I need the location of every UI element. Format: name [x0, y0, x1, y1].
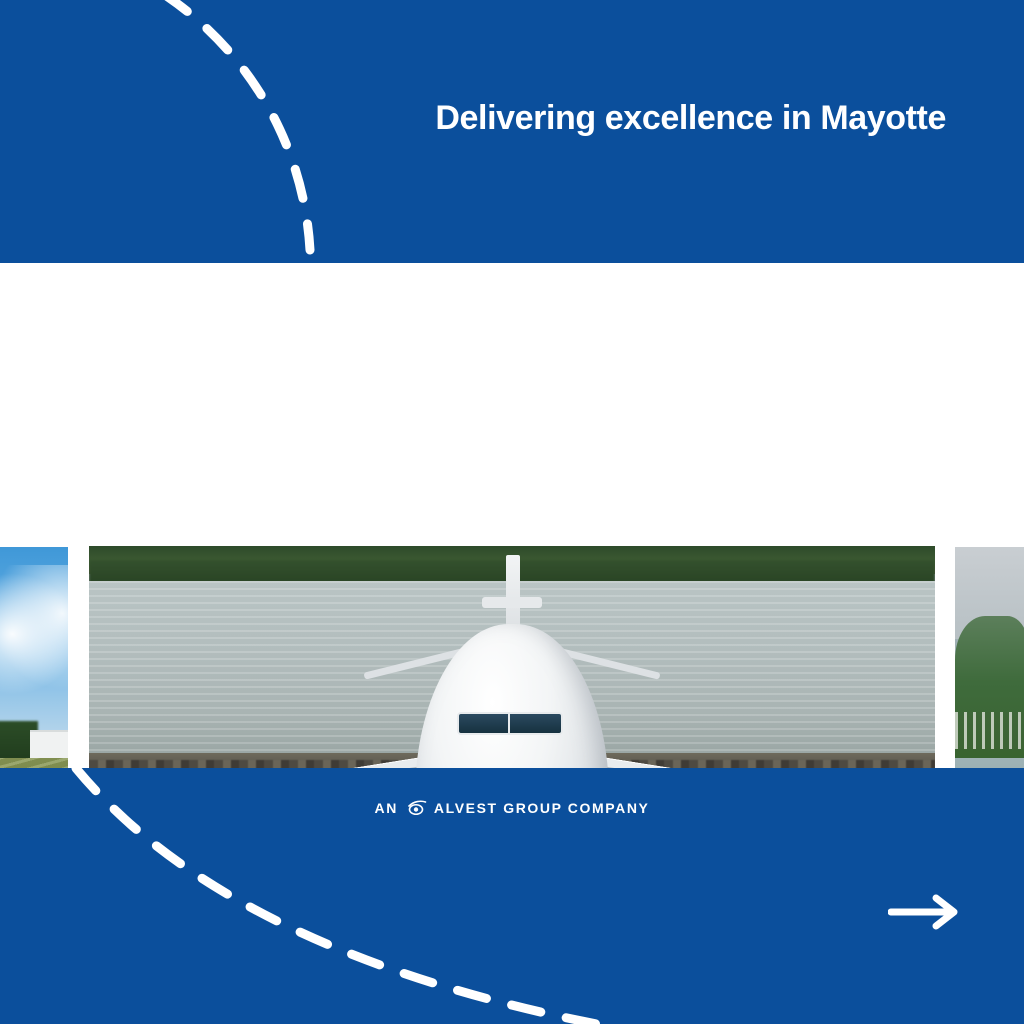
gallery-band: [0, 263, 1024, 768]
poster-canvas: Delivering excellence in Mayotte: [0, 0, 1024, 1024]
alvest-group-lockup: AN ALVEST GROUP COMPANY: [0, 800, 1024, 816]
alvest-logo-icon: [405, 800, 427, 816]
hillside-houses: [955, 712, 1024, 749]
page-title: Delivering excellence in Mayotte: [435, 99, 946, 138]
cloud-layer: [0, 565, 68, 702]
aircraft-tail-top: [482, 597, 541, 609]
lockup-company-label: ALVEST GROUP COMPANY: [434, 800, 650, 816]
footer-banner: AN ALVEST GROUP COMPANY: [0, 768, 1024, 1024]
next-arrow-icon[interactable]: [888, 892, 964, 932]
lockup-prefix-label: AN: [375, 800, 398, 816]
dashed-arc-decoration-top: [0, 0, 380, 263]
header-banner: Delivering excellence in Mayotte: [0, 0, 1024, 263]
aircraft-cockpit-windows: [457, 712, 563, 735]
